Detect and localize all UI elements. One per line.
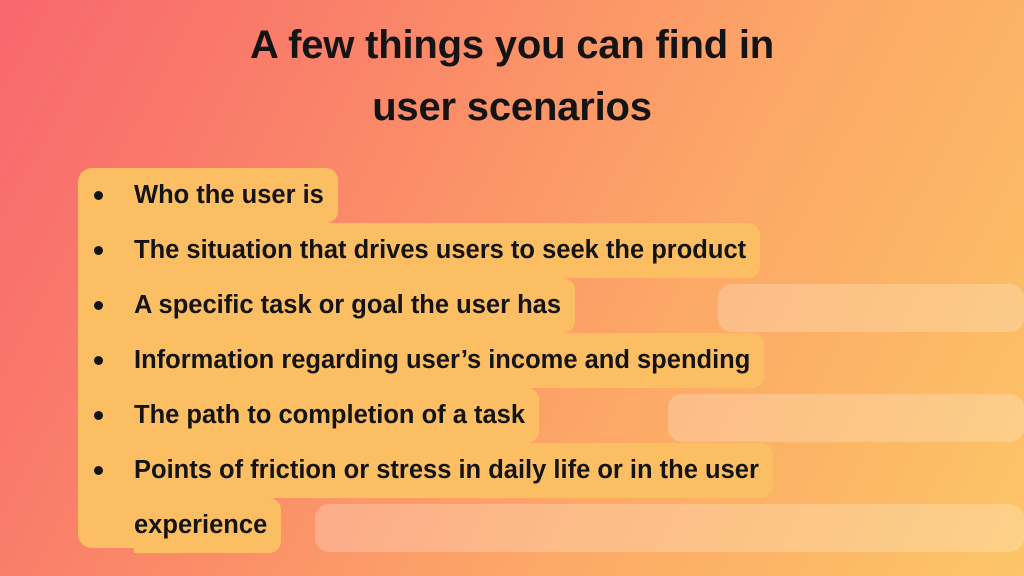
title-line-2: user scenarios [0, 76, 1024, 138]
list-item-label: A specific task or goal the user has [134, 278, 575, 333]
bullet-dot-icon [94, 246, 103, 255]
list-gutter [78, 168, 134, 548]
list-item: The path to completion of a task [78, 388, 990, 443]
list-item-label: Who the user is [134, 168, 338, 223]
list-item-label: Points of friction or stress in daily li… [134, 443, 773, 498]
bullet-dot-icon [94, 356, 103, 365]
list-item: Who the user is [78, 168, 990, 223]
ghost-highlight [315, 504, 1024, 552]
title-line-1: A few things you can find in [0, 14, 1024, 76]
bullet-dot-icon [94, 466, 103, 475]
ghost-highlight [718, 284, 1024, 332]
list-item: Information regarding user’s income and … [78, 333, 990, 388]
bullet-list: Who the user is The situation that drive… [78, 168, 990, 553]
list-item: Points of friction or stress in daily li… [78, 443, 990, 498]
ghost-highlight [668, 394, 1024, 442]
bullet-dot-icon [94, 411, 103, 420]
list-item-label: The situation that drives users to seek … [134, 223, 760, 278]
list-item: The situation that drives users to seek … [78, 223, 990, 278]
bullet-dot-icon [94, 191, 103, 200]
list-item: A specific task or goal the user has [78, 278, 990, 333]
page-title: A few things you can find in user scenar… [0, 14, 1024, 138]
list-item-continuation: experience [78, 498, 990, 553]
bullet-dot-icon [94, 301, 103, 310]
list-item-label: Information regarding user’s income and … [134, 333, 764, 388]
list-item-continuation-label: experience [134, 498, 281, 553]
list-item-label: The path to completion of a task [134, 388, 539, 443]
